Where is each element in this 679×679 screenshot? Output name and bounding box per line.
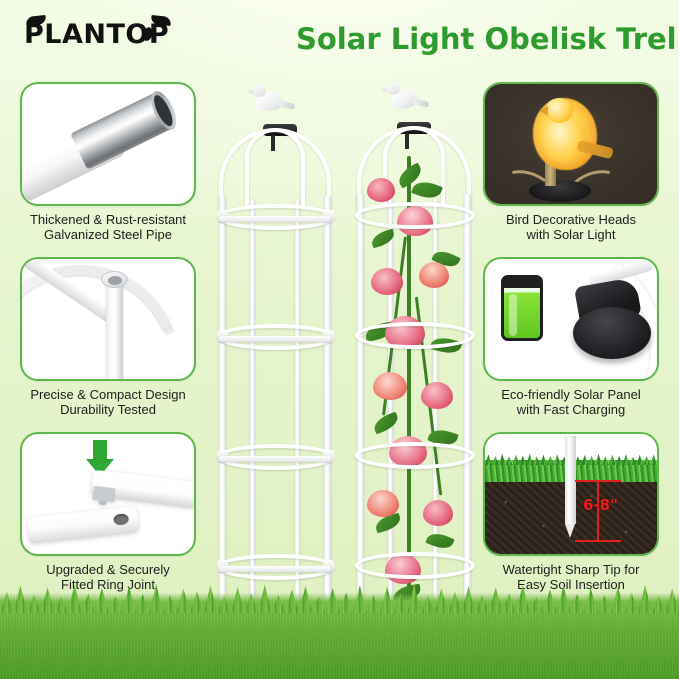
trellis-ring-4 bbox=[355, 552, 475, 579]
glowing-bird-beak bbox=[539, 106, 548, 116]
caption-line-1: Upgraded & Securely bbox=[14, 562, 202, 577]
ring-joint-upper-shape bbox=[91, 470, 196, 509]
feature-caption-compact-design: Precise & Compact Design Durability Test… bbox=[14, 387, 202, 417]
feature-card-ring-joint: Upgraded & Securely Fitted Ring Joint bbox=[14, 432, 202, 592]
product-image-rose-trellis bbox=[345, 86, 490, 626]
caption-line-1: Watertight Sharp Tip for bbox=[477, 562, 665, 577]
tube-opening-shape bbox=[101, 271, 128, 288]
caption-line-1: Bird Decorative Heads bbox=[477, 212, 665, 227]
feature-card-soil-tip: 6-8" Watertight Sharp Tip for Easy Soil … bbox=[477, 432, 665, 592]
caption-line-1: Precise & Compact Design bbox=[14, 387, 202, 402]
feature-caption-solar-panel: Eco-friendly Solar Panel with Fast Charg… bbox=[477, 387, 665, 417]
feature-caption-steel-pipe: Thickened & Rust-resistant Galvanized St… bbox=[14, 212, 202, 242]
trellis-dome-inner bbox=[245, 128, 305, 206]
trellis-rail-4 bbox=[219, 566, 331, 572]
feature-card-bird-light: Bird Decorative Heads with Solar Light bbox=[477, 82, 665, 242]
galvanized-pipe-shape bbox=[70, 92, 173, 170]
feature-caption-ring-joint: Upgraded & Securely Fitted Ring Joint bbox=[14, 562, 202, 592]
caption-line-1: Thickened & Rust-resistant bbox=[14, 212, 202, 227]
brand-logo: PLANTOP bbox=[24, 21, 169, 48]
ring-joint-lower-shape bbox=[27, 506, 139, 543]
vertical-tube-shape bbox=[106, 281, 123, 381]
feature-image-steel-pipe bbox=[20, 82, 196, 206]
trellis-rail-3 bbox=[219, 456, 331, 462]
caption-line-2: with Fast Charging bbox=[477, 402, 665, 417]
bird-topper-icon bbox=[249, 84, 291, 114]
feature-card-steel-pipe: Thickened & Rust-resistant Galvanized St… bbox=[14, 82, 202, 242]
caption-line-2: Galvanized Steel Pipe bbox=[14, 227, 202, 242]
trellis-rail-1 bbox=[219, 216, 331, 222]
caption-line-2: Fitted Ring Joint bbox=[14, 577, 202, 592]
feature-image-ring-joint bbox=[20, 432, 196, 556]
caption-line-2: with Solar Light bbox=[477, 227, 665, 242]
trellis-rail-2 bbox=[219, 336, 331, 342]
caption-line-1: Eco-friendly Solar Panel bbox=[477, 387, 665, 402]
feature-image-soil-tip: 6-8" bbox=[483, 432, 659, 556]
lawn-texture bbox=[0, 593, 679, 679]
caption-line-2: Durability Tested bbox=[14, 402, 202, 417]
feature-image-bird-light bbox=[483, 82, 659, 206]
lawn-foreground bbox=[0, 593, 679, 679]
infographic-canvas: PLANTOP Solar Light Obelisk Trellis Thic… bbox=[0, 0, 679, 679]
feature-card-solar-panel: Eco-friendly Solar Panel with Fast Charg… bbox=[477, 257, 665, 417]
solar-cap-shape bbox=[529, 180, 591, 202]
trellis-ring-2 bbox=[355, 322, 475, 349]
battery-icon bbox=[501, 275, 543, 341]
feature-caption-bird-light: Bird Decorative Heads with Solar Light bbox=[477, 212, 665, 242]
solar-panel-disc-shape bbox=[573, 307, 651, 359]
bird-topper-icon bbox=[383, 82, 425, 112]
feature-image-solar-panel bbox=[483, 257, 659, 381]
caption-line-2: Easy Soil Insertion bbox=[477, 577, 665, 592]
glowing-bird-head bbox=[545, 98, 573, 123]
trellis-ring-3 bbox=[355, 442, 475, 469]
feature-image-compact-design bbox=[20, 257, 196, 381]
trellis-ring-1 bbox=[355, 202, 475, 229]
page-title: Solar Light Obelisk Trellis bbox=[296, 22, 679, 56]
feature-caption-soil-tip: Watertight Sharp Tip for Easy Soil Inser… bbox=[477, 562, 665, 592]
feature-card-compact-design: Precise & Compact Design Durability Test… bbox=[14, 257, 202, 417]
product-image-plain-trellis bbox=[205, 86, 345, 626]
depth-measure-label: 6-8" bbox=[583, 496, 618, 514]
